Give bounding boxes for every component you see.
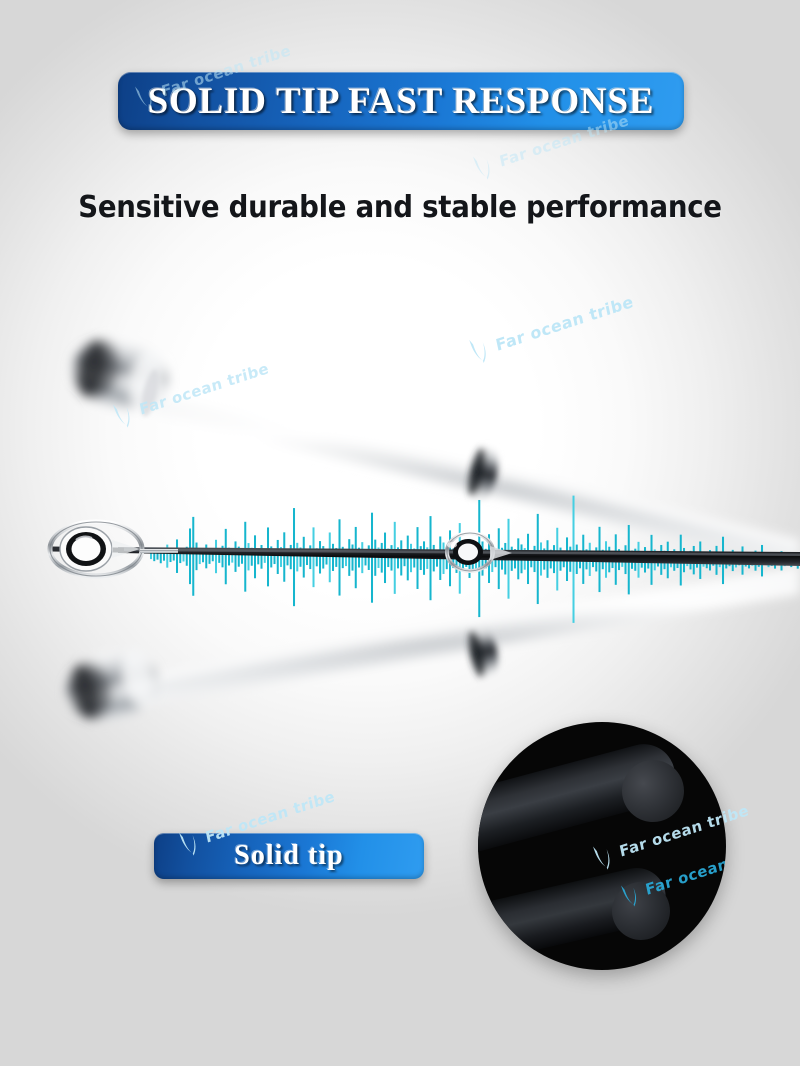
solid-tip-badge: Solid tip	[154, 833, 424, 879]
waveform-bar	[293, 508, 295, 606]
waveform-bar	[352, 545, 354, 571]
waveform-bar	[215, 540, 217, 573]
waveform-bar	[225, 529, 227, 584]
page-title: SOLID TIP FAST RESPONSE	[148, 80, 655, 123]
waveform-bar	[329, 532, 331, 582]
waveform-bar	[348, 539, 350, 576]
waveform-bar	[267, 527, 269, 586]
waveform-bar	[235, 541, 237, 571]
page-subtitle: Sensitive durable and stable performance	[32, 190, 768, 225]
waveform-bar	[313, 527, 315, 587]
waveform-bar	[244, 522, 246, 592]
waveform-bar	[277, 540, 279, 574]
waveform-bar	[248, 543, 250, 570]
waveform-bar	[283, 532, 285, 581]
waveform-bar	[339, 519, 341, 595]
waveform-bar	[189, 528, 191, 584]
rod-tip-guide	[50, 522, 178, 576]
solid-tip-detail-inset: Far ocean tribe	[478, 722, 726, 970]
waveform-bar	[332, 544, 334, 571]
product-marketing-image: SOLID TIP FAST RESPONSE Sensitive durabl…	[0, 0, 800, 1066]
waveform-bar	[196, 543, 198, 571]
rod-butt-cap-lower	[60, 644, 164, 728]
title-banner: SOLID TIP FAST RESPONSE	[118, 72, 684, 130]
waveform-bar	[319, 541, 321, 573]
solid-tip-badge-label: Solid tip	[234, 840, 343, 872]
waveform-bar	[150, 553, 152, 559]
waveform-bar	[296, 543, 298, 572]
waveform-bar	[192, 517, 194, 596]
waveform-bar	[176, 539, 178, 573]
waveform-bar	[254, 535, 256, 578]
waveform-bar	[355, 527, 357, 588]
waveform-bar	[303, 537, 305, 578]
